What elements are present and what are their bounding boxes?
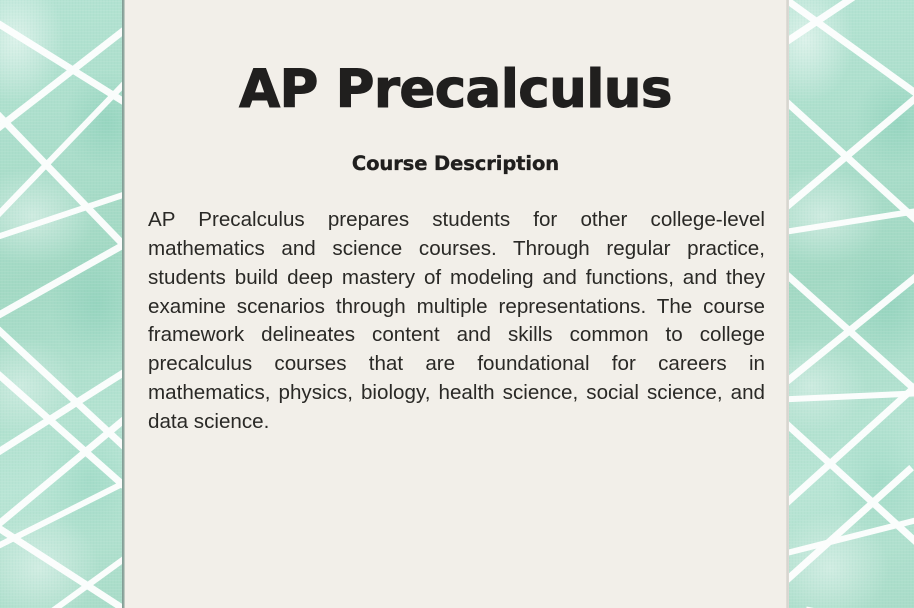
right-band-divider — [786, 0, 789, 608]
page-title: AP Precalculus — [125, 0, 786, 118]
left-decorative-band — [0, 0, 122, 608]
slide-canvas: AP Precalculus Course Description AP Pre… — [0, 0, 914, 608]
geometric-line-pattern-left — [0, 0, 122, 608]
geometric-line-pattern-right — [789, 0, 914, 608]
course-description-text: AP Precalculus prepares students for oth… — [125, 175, 786, 436]
section-heading: Course Description — [125, 118, 786, 175]
right-decorative-band — [789, 0, 914, 608]
content-panel: AP Precalculus Course Description AP Pre… — [125, 0, 786, 608]
